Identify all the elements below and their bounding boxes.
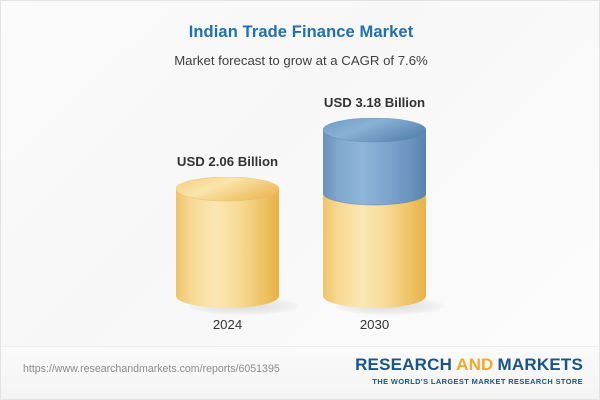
- value-label-2024: USD 2.06 Billion: [177, 154, 278, 169]
- logo[interactable]: RESEARCHANDMARKETS THE WORLD'S LARGEST M…: [355, 355, 583, 386]
- report-url[interactable]: https://www.researchandmarkets.com/repor…: [23, 363, 280, 375]
- logo-word-and: AND: [456, 355, 493, 374]
- plot-area: USD 2.06 Billion: [1, 1, 600, 346]
- logo-word-research: RESEARCH: [355, 355, 452, 374]
- bar-group-2024: USD 2.06 Billion: [176, 1, 279, 346]
- category-label-2024: 2024: [213, 317, 242, 332]
- value-label-2030: USD 3.18 Billion: [324, 95, 425, 110]
- bar-cylinder-2024[interactable]: [176, 177, 279, 308]
- bar-cylinder-2030[interactable]: [323, 118, 426, 308]
- segment-base-2030: [323, 193, 426, 308]
- chart-canvas: Indian Trade Finance Market Market forec…: [0, 0, 600, 400]
- logo-wordmark: RESEARCHANDMARKETS: [355, 355, 583, 375]
- cylinder-svg-2024: [176, 177, 279, 308]
- category-label-2030: 2030: [360, 317, 389, 332]
- cylinder-svg-2030: [323, 118, 426, 308]
- logo-tagline: THE WORLD'S LARGEST MARKET RESEARCH STOR…: [355, 377, 583, 386]
- footer: https://www.researchandmarkets.com/repor…: [1, 346, 600, 399]
- logo-word-markets: MARKETS: [498, 355, 583, 374]
- bar-group-2030: USD 3.18 Billion: [323, 1, 426, 346]
